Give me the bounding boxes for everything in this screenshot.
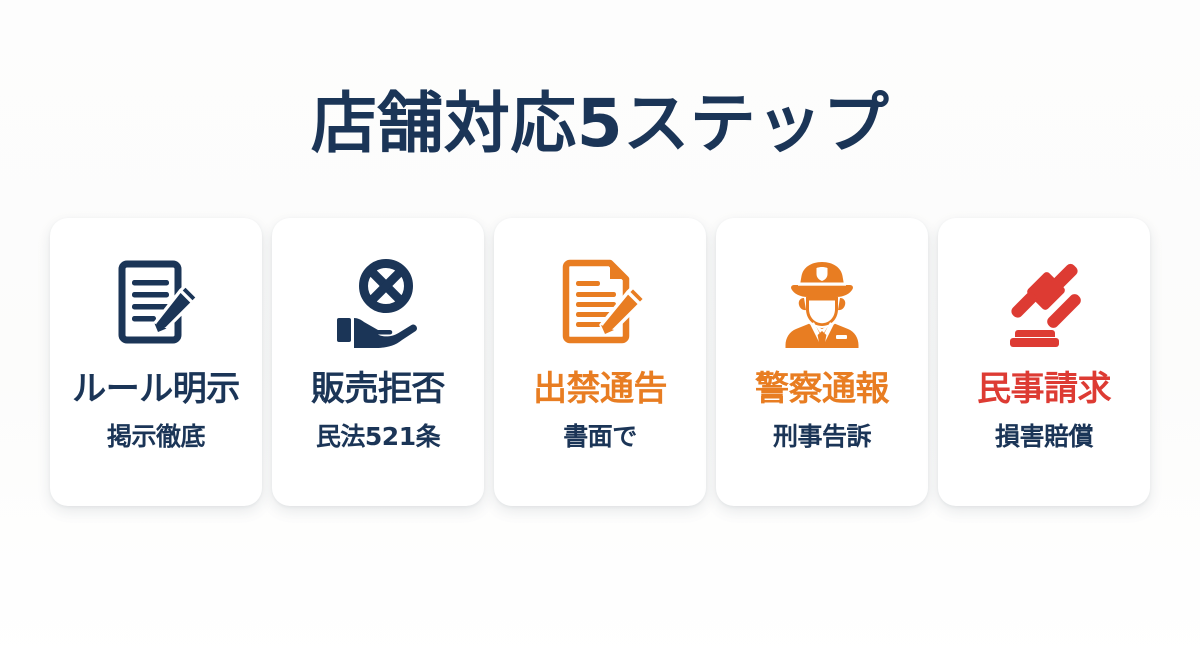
step-card-5[interactable]: 民事請求 損害賠償 — [938, 218, 1150, 506]
page-title-container: 店舗対応5ステップ — [0, 44, 1200, 204]
document-pencil-icon — [100, 252, 212, 356]
step-card-2-subtitle: 民法521条 — [316, 424, 440, 450]
hand-prohibition-icon — [322, 252, 434, 356]
step-card-4[interactable]: 警察通報 刑事告訴 — [716, 218, 928, 506]
step-card-2-title: 販売拒否 — [311, 372, 445, 408]
step-card-3-title: 出禁通告 — [533, 372, 667, 408]
step-card-4-title: 警察通報 — [755, 372, 889, 408]
step-card-1-subtitle: 掲示徹底 — [107, 424, 205, 450]
step-card-5-subtitle: 損害賠償 — [995, 424, 1093, 450]
police-officer-icon — [766, 252, 878, 356]
step-card-2[interactable]: 販売拒否 民法521条 — [272, 218, 484, 506]
infographic-slide: 店舗対応5ステップ — [0, 0, 1200, 670]
step-card-3[interactable]: 出禁通告 書面で — [494, 218, 706, 506]
step-card-row: ルール明示 掲示徹底 販売拒否 民法52 — [50, 218, 1150, 506]
step-card-1[interactable]: ルール明示 掲示徹底 — [50, 218, 262, 506]
step-card-3-subtitle: 書面で — [563, 424, 637, 450]
step-card-4-subtitle: 刑事告訴 — [773, 424, 871, 450]
document-pencil-orange-icon — [544, 252, 656, 356]
gavel-icon — [988, 252, 1100, 356]
page-title: 店舗対応5ステップ — [311, 88, 889, 159]
step-card-1-title: ルール明示 — [72, 372, 240, 408]
step-card-5-title: 民事請求 — [977, 372, 1111, 408]
